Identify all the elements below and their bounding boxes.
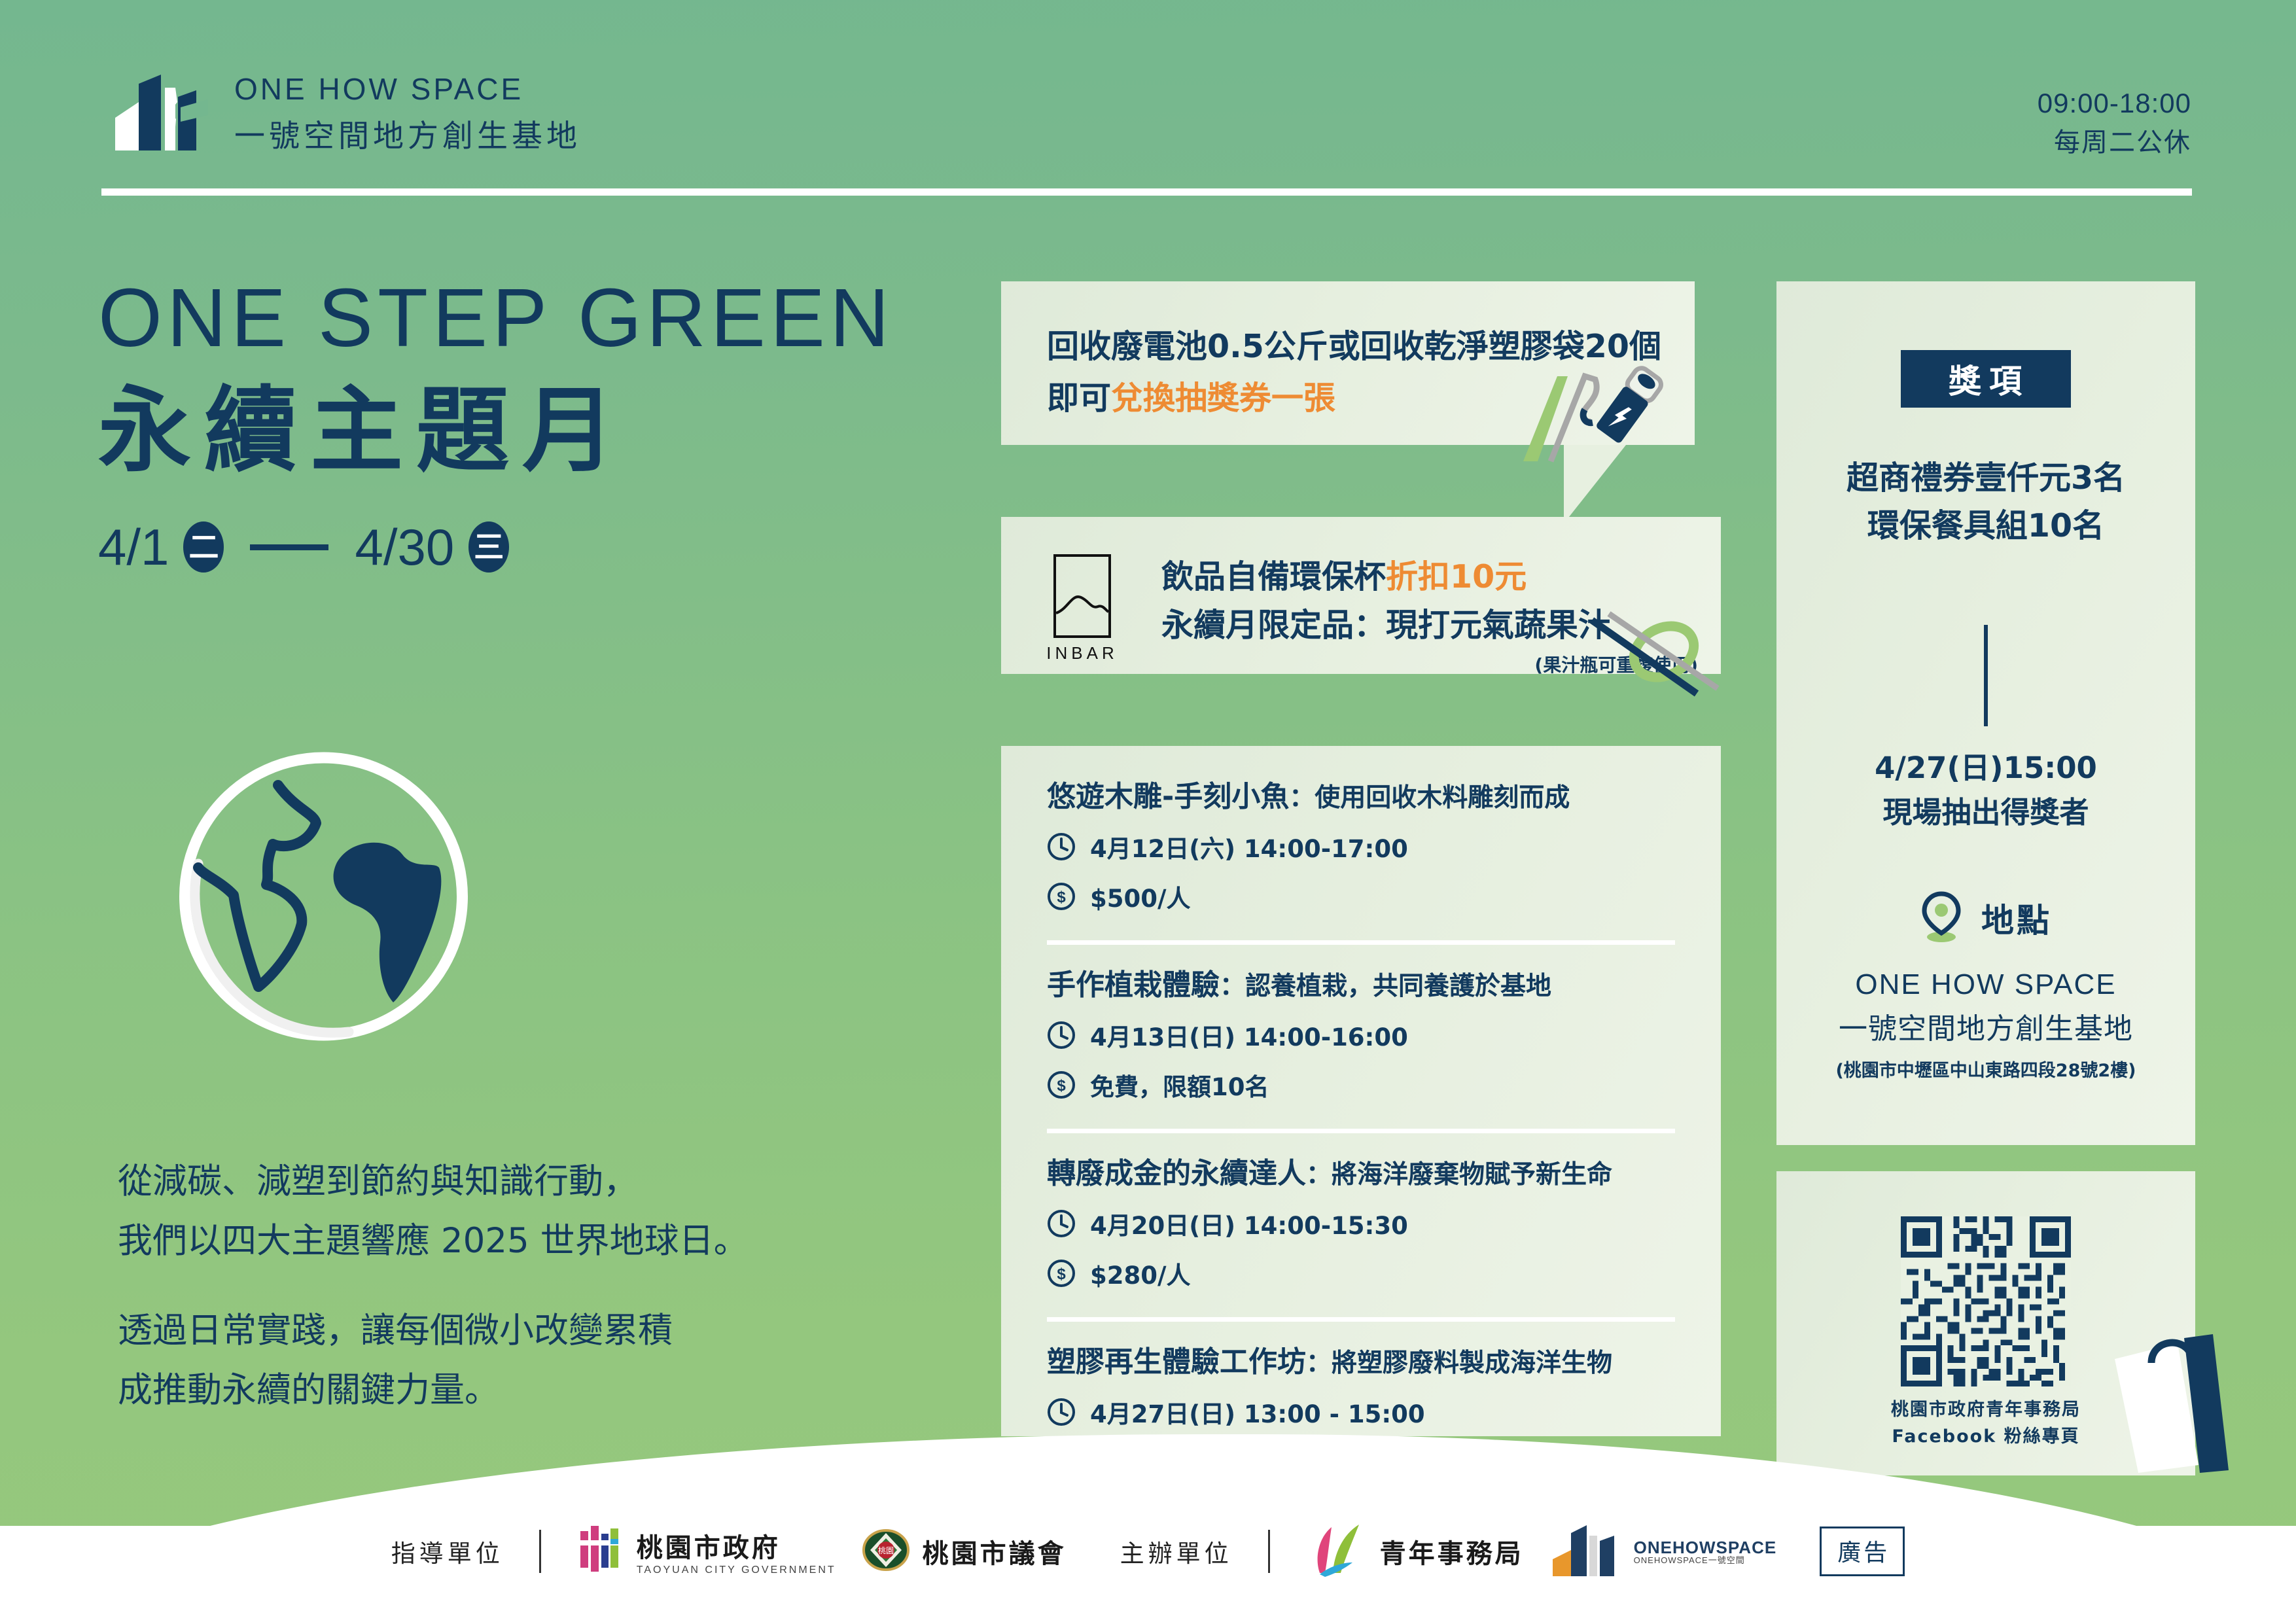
poster-header: ONE HOW SPACE 一號空間地方創生基地 09:00-18:00 每周二… — [0, 0, 2296, 196]
footer-divider — [539, 1530, 541, 1573]
inbar-logo-icon: INBAR — [1046, 553, 1124, 667]
dollar-icon: $ — [1047, 882, 1076, 911]
clock-icon — [1047, 1209, 1076, 1238]
advisor-label: 指導單位 — [391, 1534, 504, 1569]
opening-hours-block: 09:00-18:00 每周二公休 — [2038, 84, 2191, 162]
prize-item-1: 超商禮券壹仟元3名 — [1776, 455, 2195, 503]
event-time: 4月13日(日) 14:00-16:00 — [1090, 1017, 1408, 1053]
event-date-range: 4/1 二 4/30 三 — [98, 518, 968, 577]
prize-list: 超商禮券壹仟元3名 環保餐具組10名 — [1776, 455, 2195, 550]
org-one-how-space: ONEHOWSPACE ONEHOWSPACE一號空間 — [1549, 1521, 1777, 1582]
event-time-row: 4月27日(日) 13:00 - 15:00 — [1047, 1394, 1675, 1430]
closed-day: 每周二公休 — [2038, 124, 2191, 162]
inbar-wordmark: INBAR — [1046, 643, 1118, 663]
poster-root: ONE HOW SPACE 一號空間地方創生基地 09:00-18:00 每周二… — [0, 0, 2296, 1624]
prize-vertical-divider — [1984, 625, 1988, 726]
intro-line-3: 透過日常實踐，讓每個微小改變累積 — [118, 1301, 916, 1360]
intro-line-2: 我們以四大主題響應 2025 世界地球日。 — [118, 1211, 916, 1271]
dollar-icon: $ — [1047, 1259, 1076, 1288]
hero-title-zh: 永續主題月 — [98, 376, 968, 487]
host-label: 主辦單位 — [1120, 1534, 1233, 1569]
date-start-weekday-badge: 二 — [183, 521, 224, 573]
recycle-line-2-prefix: 即可 — [1047, 380, 1111, 417]
venue-block: ONE HOW SPACE 一號空間地方創生基地 (桃園市中壢區中山東路四段28… — [1776, 968, 2195, 1082]
brand-name-en: ONE HOW SPACE — [234, 71, 581, 107]
hero-title-en: ONE STEP GREEN — [98, 275, 968, 361]
date-range-dash — [250, 544, 328, 550]
event-price-row: $ $500/人 — [1047, 879, 1675, 914]
svg-text:$: $ — [1057, 889, 1066, 906]
org-taoyuan-city-council: 桃園 桃園市議會 — [861, 1525, 1067, 1578]
org-taoyuan-city-government: 桃園市政府 TAOYUAN CITY GOVERNMENT — [576, 1522, 836, 1581]
dollar-icon: $ — [1047, 1070, 1076, 1099]
location-heading: 地點 — [1776, 890, 2195, 945]
event-item: 轉廢成金的永續達人：將海洋廢棄物賦予新生命 4月20日(日) 14:00-15:… — [1047, 1156, 1675, 1296]
event-name: 手作植栽體驗 — [1047, 967, 1220, 1003]
prize-draw-note: 現場抽出得獎者 — [1776, 790, 2195, 835]
brand-name-zh: 一號空間地方創生基地 — [234, 111, 581, 156]
location-label: 地點 — [1981, 894, 2052, 942]
event-desc: ：將塑膠廢料製成海洋生物 — [1306, 1348, 1612, 1380]
event-name: 轉廢成金的永續達人 — [1047, 1156, 1306, 1192]
venue-name-en: ONE HOW SPACE — [1776, 968, 2195, 1001]
org-name: 桃園市議會 — [923, 1532, 1067, 1570]
drink-line-1-highlight: 折扣10元 — [1386, 558, 1527, 595]
intro-paragraph: 從減碳、減塑到節約與知識行動， 我們以四大主題響應 2025 世界地球日。 透過… — [118, 1152, 916, 1421]
clock-icon — [1047, 1398, 1076, 1426]
venue-address: (桃園市中壢區中山東路四段28號2樓) — [1776, 1056, 2195, 1082]
svg-text:$: $ — [1057, 1077, 1066, 1095]
svg-text:桃園: 桃園 — [878, 1545, 894, 1555]
date-start: 4/1 — [98, 518, 169, 577]
prize-draw-time: 4/27(日)15:00 — [1776, 746, 2195, 790]
prize-badge: 獎項 — [1901, 350, 2071, 408]
org-youth-affairs-bureau: 青年事務局 — [1305, 1522, 1524, 1581]
venue-name-zh: 一號空間地方創生基地 — [1776, 1005, 2195, 1047]
shopping-bag-illustration — [2100, 1325, 2251, 1475]
event-time: 4月20日(日) 14:00-15:30 — [1090, 1206, 1408, 1241]
paragraph-spacer — [118, 1271, 916, 1301]
straw-loop-illustration — [1587, 609, 1724, 707]
event-time: 4月27日(日) 13:00 - 15:00 — [1090, 1394, 1425, 1430]
date-end: 4/30 — [355, 518, 454, 577]
footer-divider — [1268, 1530, 1270, 1573]
map-pin-icon — [1920, 890, 1963, 945]
event-separator — [1047, 1317, 1675, 1322]
one-how-space-footer-logo-icon — [1549, 1521, 1622, 1582]
qr-code[interactable] — [1901, 1214, 2071, 1389]
event-desc: ：認養植栽，共同養護於基地 — [1220, 971, 1551, 1003]
opening-hours: 09:00-18:00 — [2038, 84, 2191, 124]
event-price: 免費，限額10名 — [1090, 1067, 1269, 1103]
event-separator — [1047, 1129, 1675, 1133]
advertisement-badge: 廣告 — [1820, 1527, 1905, 1576]
clock-icon — [1047, 832, 1076, 861]
one-how-space-logo-icon — [110, 71, 208, 156]
intro-line-1: 從減碳、減塑到節約與知識行動， — [118, 1152, 916, 1211]
taoyuan-peach-logo-icon — [576, 1522, 625, 1581]
prize-draw-info: 4/27(日)15:00 現場抽出得獎者 — [1776, 746, 2195, 834]
footer-organizations: 指導單位 桃園市政府 TAOYUAN CITY GOVERNMENT — [0, 1515, 2296, 1587]
event-desc: ：使用回收木料雕刻而成 — [1289, 783, 1570, 815]
hero-block: ONE STEP GREEN 永續主題月 4/1 二 4/30 三 — [98, 275, 968, 577]
event-price-row: $ $280/人 — [1047, 1256, 1675, 1291]
org-name-en: TAOYUAN CITY GOVERNMENT — [637, 1564, 836, 1576]
event-item: 悠遊木雕-手刻小魚：使用回收木料雕刻而成 4月12日(六) 14:00-17:0… — [1047, 779, 1675, 919]
org-name: 桃園市政府 — [637, 1527, 781, 1564]
event-time-row: 4月13日(日) 14:00-16:00 — [1047, 1017, 1675, 1053]
event-price: $280/人 — [1090, 1256, 1191, 1291]
event-time-row: 4月12日(六) 14:00-17:00 — [1047, 829, 1675, 864]
intro-line-4: 成推動永續的關鍵力量。 — [118, 1360, 916, 1420]
org-name-sub: ONEHOWSPACE一號空間 — [1634, 1556, 1777, 1564]
brand-logo-block: ONE HOW SPACE 一號空間地方創生基地 — [110, 71, 581, 156]
youth-bureau-leaf-logo-icon — [1305, 1522, 1368, 1581]
events-list: 悠遊木雕-手刻小魚：使用回收木料雕刻而成 4月12日(六) 14:00-17:0… — [1047, 779, 1675, 1485]
event-price-row: $ 免費，限額10名 — [1047, 1067, 1675, 1103]
event-item: 手作植栽體驗：認養植栽，共同養護於基地 4月13日(日) 14:00-16:00… — [1047, 967, 1675, 1108]
event-price: $500/人 — [1090, 879, 1191, 914]
svg-text:$: $ — [1057, 1265, 1066, 1283]
event-name: 塑膠再生體驗工作坊 — [1047, 1344, 1306, 1380]
header-divider — [101, 188, 2192, 196]
org-name: ONEHOWSPACE — [1634, 1539, 1777, 1556]
date-end-weekday-badge: 三 — [468, 521, 509, 573]
battery-straw-illustration — [1511, 353, 1727, 465]
prize-item-2: 環保餐具組10名 — [1776, 503, 2195, 550]
event-separator — [1047, 940, 1675, 945]
event-time-row: 4月20日(日) 14:00-15:30 — [1047, 1206, 1675, 1241]
clock-icon — [1047, 1021, 1076, 1050]
recycle-line-2-highlight: 兌換抽獎券一張 — [1111, 380, 1335, 417]
earth-globe-icon — [173, 746, 474, 1047]
city-council-seal-icon: 桃園 — [861, 1525, 911, 1578]
event-desc: ：將海洋廢棄物賦予新生命 — [1306, 1159, 1612, 1192]
org-name: 青年事務局 — [1380, 1532, 1524, 1570]
drink-line-1-prefix: 飲品自備環保杯 — [1161, 558, 1386, 595]
event-time: 4月12日(六) 14:00-17:00 — [1090, 829, 1408, 864]
event-name: 悠遊木雕-手刻小魚 — [1047, 779, 1289, 815]
